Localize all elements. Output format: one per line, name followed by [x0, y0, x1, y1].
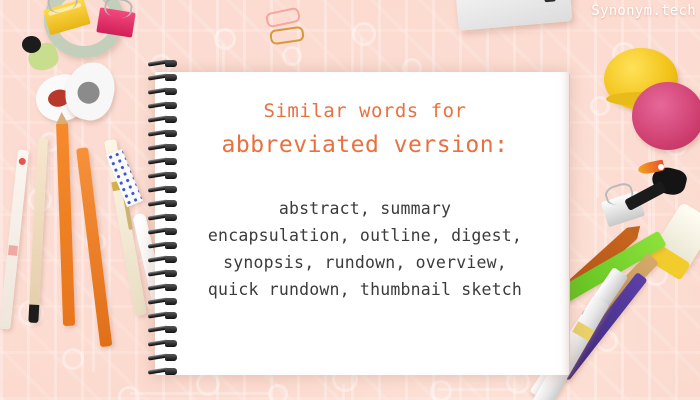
synonym-line: abstract, summary [168, 196, 562, 223]
title-line-1: Similar words for [175, 98, 555, 125]
bird-eraser [22, 36, 58, 70]
site-logo[interactable]: Synonym.tech [591, 3, 696, 19]
synonym-line: encapsulation, outline, digest, [168, 223, 562, 250]
synonym-list: abstract, summary encapsulation, outline… [168, 196, 562, 304]
page-title: Similar words for abbreviated version: [175, 98, 555, 162]
screenshot-root: Similar words for abbreviated version: a… [0, 0, 700, 400]
synonym-line: synopsis, rundown, overview, [168, 250, 562, 277]
synonym-line: quick rundown, thumbnail sketch [168, 277, 562, 304]
pink-binder-clip [96, 7, 135, 37]
title-line-2: abbreviated version: [175, 129, 555, 162]
pink-macaron [632, 82, 700, 150]
